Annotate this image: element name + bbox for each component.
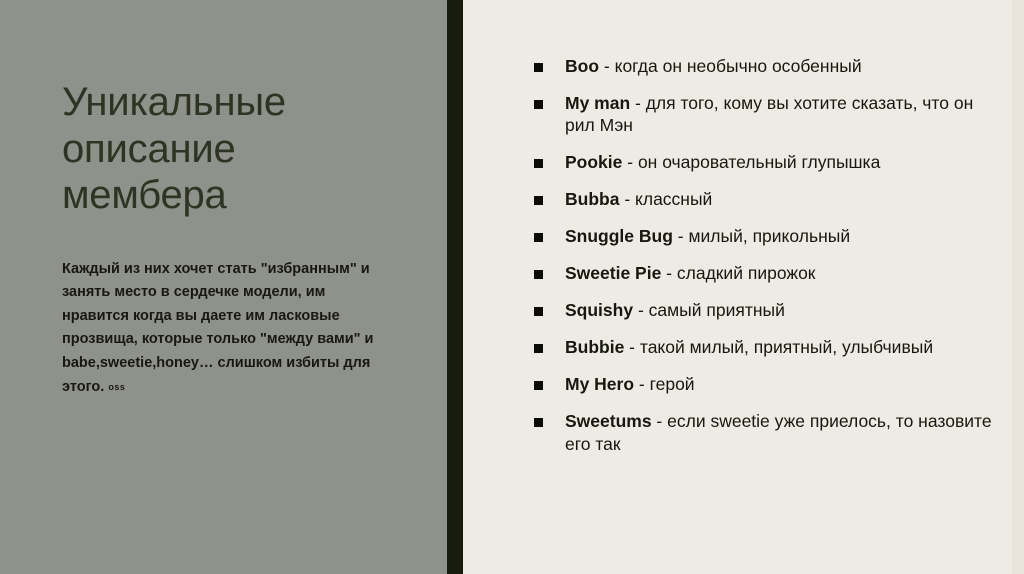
nickname-description: сладкий пирожок (677, 263, 816, 283)
nickname-term: Bubba (565, 189, 619, 209)
list-item: Sweetie Pie - сладкий пирожок (534, 262, 1004, 284)
right-edge-strip (1012, 0, 1024, 574)
square-bullet-icon (534, 307, 543, 316)
list-item: Squishy - самый приятный (534, 299, 1004, 321)
nickname-term: Sweetums (565, 411, 652, 431)
square-bullet-icon (534, 159, 543, 168)
nickname-description: герой (650, 374, 695, 394)
nickname-description: такой милый, приятный, улыбчивый (640, 337, 933, 357)
nickname-separator: - (633, 300, 649, 320)
nickname-description: милый, прикольный (688, 226, 850, 246)
nickname-separator: - (619, 189, 635, 209)
intro-paragraph: Каждый из них хочет стать "избранным" и … (62, 258, 380, 400)
square-bullet-icon (534, 270, 543, 279)
list-item: My man - для того, кому вы хотите сказат… (534, 92, 1004, 136)
nickname-description: самый приятный (649, 300, 785, 320)
nickname-description: когда он необычно особенный (615, 56, 862, 76)
list-item: Pookie - он очаровательный глупышка (534, 151, 1004, 173)
nickname-term: Squishy (565, 300, 633, 320)
list-item: Bubbie - такой милый, приятный, улыбчивы… (534, 336, 1004, 358)
square-bullet-icon (534, 344, 543, 353)
nickname-description: он очаровательный глупышка (638, 152, 880, 172)
nickname-description: классный (635, 189, 712, 209)
nickname-term: Bubbie (565, 337, 624, 357)
square-bullet-icon (534, 381, 543, 390)
intro-paragraph-text: Каждый из них хочет стать "избранным" и … (62, 261, 373, 395)
nickname-term: Sweetie Pie (565, 263, 661, 283)
list-item: Boo - когда он необычно особенный (534, 55, 1004, 77)
square-bullet-icon (534, 418, 543, 427)
nickname-separator: - (599, 56, 615, 76)
nickname-term: Boo (565, 56, 599, 76)
page-title: Уникальные описание мембера (62, 79, 402, 219)
nickname-separator: - (661, 263, 677, 283)
nickname-term: My man (565, 93, 630, 113)
nickname-list: Boo - когда он необычно особенный My man… (534, 55, 1004, 455)
nickname-separator: - (630, 93, 646, 113)
nickname-separator: - (673, 226, 689, 246)
nickname-term: Snuggle Bug (565, 226, 673, 246)
list-item: Snuggle Bug - милый, прикольный (534, 225, 1004, 247)
square-bullet-icon (534, 100, 543, 109)
nickname-separator: - (652, 411, 668, 431)
nickname-separator: - (634, 374, 650, 394)
square-bullet-icon (534, 233, 543, 242)
panel-divider (447, 0, 463, 574)
source-mark: oss (108, 382, 125, 392)
square-bullet-icon (534, 196, 543, 205)
list-item: My Hero - герой (534, 373, 1004, 395)
list-item: Sweetums - если sweetie уже приелось, то… (534, 410, 1004, 454)
square-bullet-icon (534, 63, 543, 72)
nickname-separator: - (624, 337, 640, 357)
list-item: Bubba - классный (534, 188, 1004, 210)
nickname-term: Pookie (565, 152, 622, 172)
nickname-term: My Hero (565, 374, 634, 394)
nickname-separator: - (622, 152, 638, 172)
slide-canvas: Уникальные описание мембера Каждый из ни… (0, 0, 1024, 574)
